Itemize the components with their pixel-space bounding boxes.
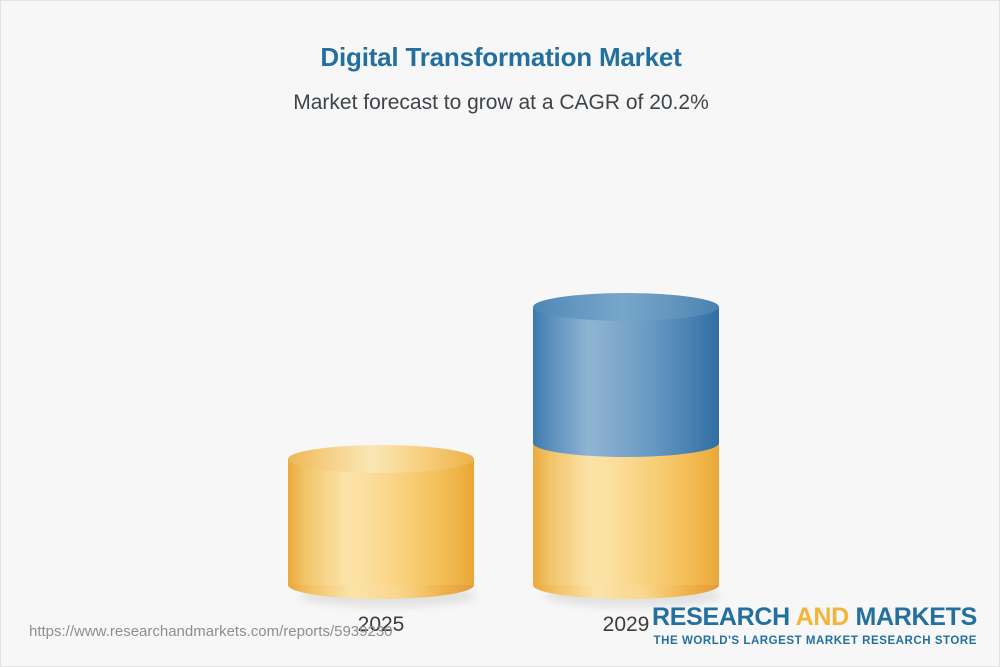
cylinder-segment-divider-2029	[533, 429, 719, 457]
cylinder-top-cap-2025	[288, 445, 474, 473]
cylinder-2025[interactable]	[288, 445, 474, 601]
cylinder-body-2025	[288, 459, 474, 585]
bar-group-2025: USD 2.11 Trillion 2025	[288, 88, 474, 601]
logo-text-research: RESEARCH	[652, 603, 790, 631]
brand-logo[interactable]: RESEARCH AND MARKETS THE WORLD'S LARGEST…	[652, 603, 977, 647]
logo-text-and: AND	[796, 603, 849, 631]
cylinder-segment-growth-2029	[533, 307, 719, 443]
logo-text-markets: MARKETS	[855, 603, 977, 631]
cylinder-top-cap-2029	[533, 293, 719, 321]
logo-wordmark: RESEARCH AND MARKETS	[652, 603, 977, 632]
bar-group-2029: USD 4.41 Trillion 2029	[533, 88, 719, 601]
cylinder-segment-base-2029	[533, 443, 719, 585]
logo-tagline: THE WORLD'S LARGEST MARKET RESEARCH STOR…	[652, 635, 977, 647]
cylinder-2029[interactable]	[533, 293, 719, 601]
chart-canvas: Digital Transformation Market Market for…	[0, 0, 1000, 667]
plot-area: USD 2.11 Trillion 2025 USD 4.41 Trillion	[1, 1, 1000, 601]
source-url[interactable]: https://www.researchandmarkets.com/repor…	[29, 623, 393, 640]
